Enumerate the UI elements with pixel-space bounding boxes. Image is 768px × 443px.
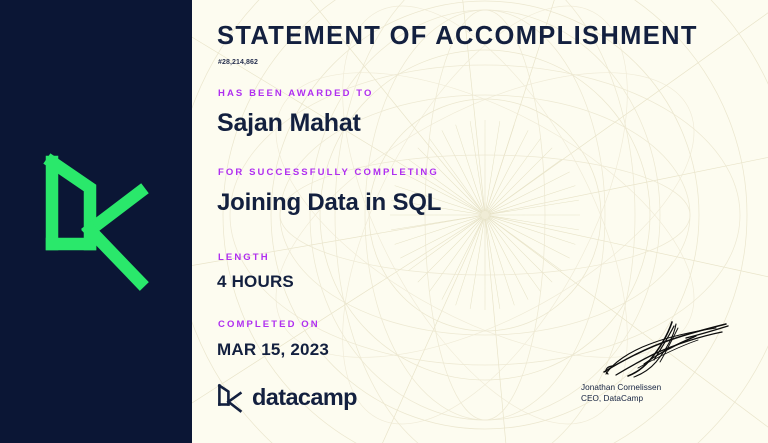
datacamp-wordmark: datacamp: [217, 383, 372, 413]
datacamp-logo-icon: [42, 152, 150, 292]
brand-panel: [0, 0, 192, 443]
recipient-name: Sajan Mahat: [217, 109, 361, 138]
course-completed-label: FOR SUCCESSFULLY COMPLETING: [218, 167, 439, 178]
course-name: Joining Data in SQL: [217, 189, 441, 217]
datacamp-wordmark-text: datacamp: [252, 385, 372, 411]
page-title: STATEMENT OF ACCOMPLISHMENT: [217, 22, 698, 51]
certificate-id: #28,214,862: [218, 59, 258, 66]
certificate-body: STATEMENT OF ACCOMPLISHMENT #28,214,862 …: [192, 0, 768, 443]
datacamp-logo-icon: [217, 383, 243, 413]
signature-block: Jonathan Cornelissen CEO, DataCamp: [574, 318, 752, 405]
certificate: STATEMENT OF ACCOMPLISHMENT #28,214,862 …: [0, 0, 768, 443]
signer-role: CEO, DataCamp: [581, 393, 752, 404]
awarded-to-label: HAS BEEN AWARDED TO: [218, 88, 374, 99]
svg-text:datacamp: datacamp: [252, 385, 357, 410]
completed-on-value: MAR 15, 2023: [217, 340, 329, 360]
handwritten-signature-icon: [598, 318, 730, 380]
signer-name: Jonathan Cornelissen: [581, 382, 752, 393]
length-label: LENGTH: [218, 252, 270, 263]
completed-on-label: COMPLETED ON: [218, 319, 320, 330]
length-value: 4 HOURS: [217, 272, 294, 292]
